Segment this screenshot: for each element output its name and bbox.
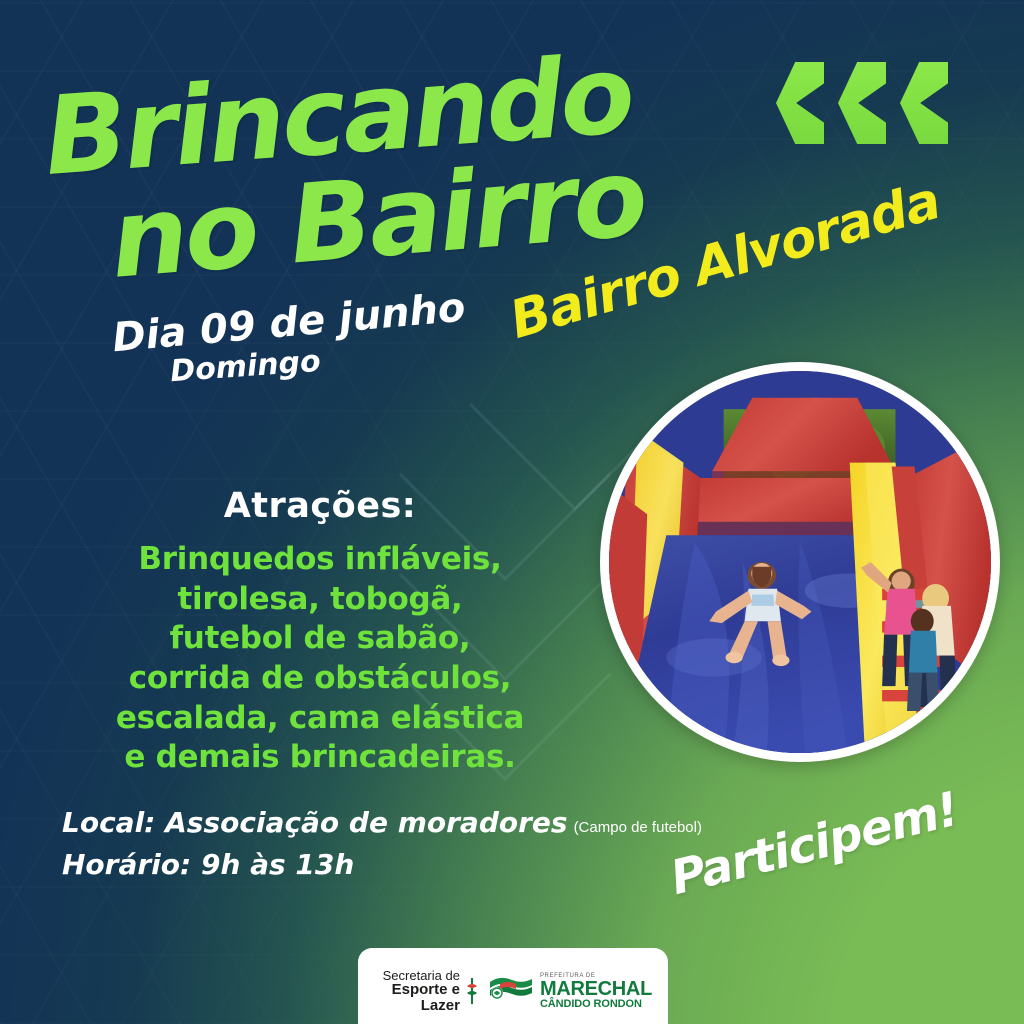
event-details-block: Local: Associação de moradores(Campo de … [62, 806, 702, 890]
event-location-label: Local: Associação de moradores [62, 806, 568, 839]
secretaria-text: Secretaria de Esporte e Lazer [374, 969, 460, 1014]
attraction-item: tirolesa, tobogã, [60, 580, 580, 620]
attraction-item: e demais brincadeiras. [60, 738, 580, 778]
attractions-block: Atrações: Brinquedos infláveis, tirolesa… [60, 486, 580, 778]
attraction-item: escalada, cama elástica [60, 699, 580, 739]
prefeitura-text: PREFEITURA DE MARECHAL CÂNDIDO RONDON [540, 973, 652, 1010]
event-photo [600, 362, 1000, 762]
chevron-left-icon [776, 62, 824, 144]
prefeitura-flag-icon [488, 974, 534, 1009]
event-poster: Brincando no Bairro Dia 09 de junho Domi… [0, 0, 1024, 1024]
event-date-block: Dia 09 de junho Domingo [112, 300, 466, 379]
event-photo-image [609, 371, 991, 753]
event-location-note: (Campo de futebol) [574, 819, 702, 836]
secretaria-line-1: Secretaria de [374, 969, 460, 983]
attraction-item: futebol de sabão, [60, 619, 580, 659]
prefeitura-logo: PREFEITURA DE MARECHAL CÂNDIDO RONDON [488, 973, 652, 1010]
chevron-left-icon [900, 62, 948, 144]
prefeitura-line-3: CÂNDIDO RONDON [540, 999, 652, 1010]
secretaria-line-2: Esporte e Lazer [374, 982, 460, 1013]
footer-logo-bar: Secretaria de Esporte e Lazer [358, 948, 668, 1024]
chevron-left-icon [838, 62, 886, 144]
inflatable-slide-illustration [609, 371, 991, 753]
secretaria-logo: Secretaria de Esporte e Lazer [374, 969, 478, 1014]
secretaria-emblem-icon [466, 978, 478, 1004]
event-time: Horário: 9h às 13h [62, 848, 702, 881]
attraction-item: Brinquedos infláveis, [60, 540, 580, 580]
attractions-heading: Atrações: [60, 486, 580, 526]
poster-title: Brincando no Bairro [38, 62, 758, 265]
event-location: Local: Associação de moradores(Campo de … [62, 806, 702, 839]
attraction-item: corrida de obstáculos, [60, 659, 580, 699]
chevron-decoration-group [776, 62, 948, 144]
prefeitura-line-2: MARECHAL [540, 979, 652, 999]
